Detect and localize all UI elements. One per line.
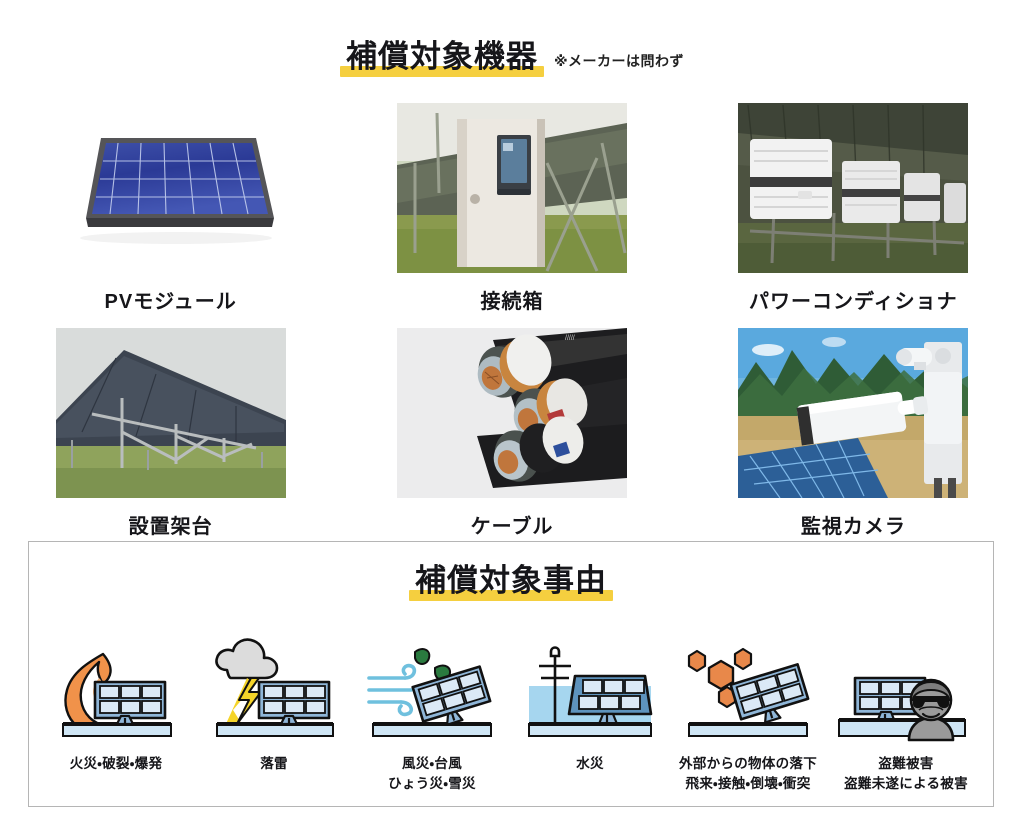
- equipment-item-pv-module: PVモジュール: [0, 103, 341, 314]
- equipment-item-label: パワーコンディショナ: [749, 285, 958, 314]
- wind-panel-icon: [357, 634, 507, 744]
- equipment-item-cable: ///// ケーブル: [341, 328, 682, 539]
- pv-module-illustration: [56, 103, 286, 273]
- equipment-section-note: ※メーカーは問わず: [554, 51, 684, 76]
- fire-panel-icon: [41, 634, 191, 744]
- peril-item-theft: 盗難被害 盗難未遂による被害: [827, 634, 985, 793]
- peril-item-flood: 水災: [511, 634, 669, 793]
- svg-text://///: /////: [565, 335, 575, 342]
- peril-item-fire: 火災・破裂・爆発: [37, 634, 195, 793]
- perils-section-header: 補償対象事由: [29, 564, 993, 600]
- equipment-section-title: 補償対象機器: [340, 40, 544, 76]
- peril-item-label: 外部からの物体の落下 飛来・接触・倒壊・衝突: [679, 754, 817, 793]
- equipment-item-power-conditioner: パワーコンディショナ: [683, 103, 1024, 314]
- peril-item-label: 水災: [576, 754, 604, 774]
- perils-section-title: 補償対象事由: [409, 564, 613, 600]
- falling-object-panel-icon: [673, 634, 823, 744]
- perils-panel: 補償対象事由: [28, 541, 994, 807]
- equipment-item-label: 監視カメラ: [801, 510, 906, 539]
- peril-item-falling-object: 外部からの物体の落下 飛来・接触・倒壊・衝突: [669, 634, 827, 793]
- power-conditioner-photo: [738, 103, 968, 273]
- equipment-item-security-camera: 監視カメラ: [683, 328, 1024, 539]
- poster-root: 補償対象機器 ※メーカーは問わず: [0, 0, 1024, 830]
- equipment-section-header: 補償対象機器 ※メーカーは問わず: [0, 40, 1024, 76]
- flood-panel-icon: [515, 634, 665, 744]
- equipment-item-label: PVモジュール: [105, 285, 237, 314]
- lightning-panel-icon: [199, 634, 349, 744]
- peril-item-label: 火災・破裂・爆発: [70, 754, 163, 774]
- cable-photo: /////: [397, 328, 627, 498]
- equipment-grid: PVモジュール: [0, 103, 1024, 539]
- junction-box-photo: [397, 103, 627, 273]
- equipment-item-label: 接続箱: [480, 285, 543, 314]
- peril-item-label: 盗難被害 盗難未遂による被害: [844, 754, 968, 793]
- perils-grid: 火災・破裂・爆発: [37, 634, 985, 793]
- security-camera-photo: [738, 328, 968, 498]
- mounting-rack-photo: [56, 328, 286, 498]
- equipment-item-mounting-rack: 設置架台: [0, 328, 341, 539]
- equipment-item-label: 設置架台: [129, 510, 213, 539]
- equipment-item-junction-box: 接続箱: [341, 103, 682, 314]
- peril-item-wind: 風災・台風 ひょう災・雪災: [353, 634, 511, 793]
- peril-item-label: 風災・台風 ひょう災・雪災: [388, 754, 476, 793]
- peril-item-lightning: 落雷: [195, 634, 353, 793]
- peril-item-label: 落雷: [260, 754, 288, 774]
- theft-panel-icon: [831, 634, 981, 744]
- equipment-item-label: ケーブル: [471, 510, 554, 539]
